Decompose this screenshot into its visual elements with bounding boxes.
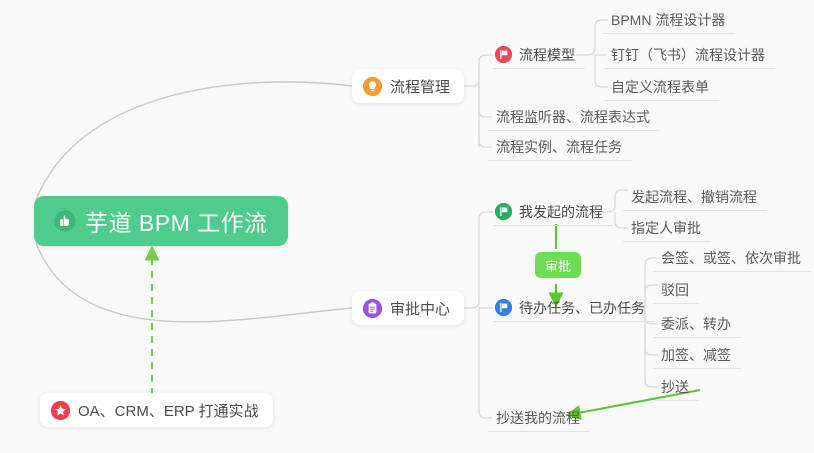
- leaf-label: 流程实例、流程任务: [496, 137, 622, 157]
- leaf-label: 抄送: [661, 377, 689, 397]
- edge-ac-to-ccme: [479, 308, 492, 418]
- leaf-label: 钉钉（飞书）流程设计器: [611, 45, 765, 65]
- leaf-dingtalk-feishu-designer[interactable]: 钉钉（飞书）流程设计器: [603, 41, 775, 69]
- node-label: 待办任务、已办任务: [519, 298, 645, 318]
- flag-icon: [495, 46, 512, 63]
- node-my-initiated-process[interactable]: 我发起的流程: [493, 198, 613, 226]
- branch-approval-center[interactable]: 审批中心: [352, 291, 464, 325]
- leaf-delegate-transfer[interactable]: 委派、转办: [653, 310, 741, 338]
- node-process-model[interactable]: 流程模型: [493, 41, 585, 69]
- footer-card-oa-crm-erp[interactable]: OA、CRM、ERP 打通实战: [40, 393, 273, 427]
- node-label: 我发起的流程: [519, 202, 603, 222]
- leaf-countersign-or-sequential[interactable]: 会签、或签、依次审批: [653, 244, 811, 272]
- leaf-process-listener-expression[interactable]: 流程监听器、流程表达式: [488, 103, 660, 131]
- root-node-label: 芋道 BPM 工作流: [85, 204, 268, 238]
- leaf-label: 指定人审批: [631, 218, 701, 238]
- node-label: 流程模型: [519, 45, 575, 65]
- star-icon: [51, 401, 70, 420]
- flag-icon: [495, 203, 512, 220]
- leaf-label: BPMN 流程设计器: [611, 10, 725, 30]
- edge-ac-to-mine: [463, 212, 493, 308]
- branch-label: 流程管理: [390, 76, 450, 97]
- leaf-label: 自定义流程表单: [611, 77, 709, 97]
- leaf-label: 委派、转办: [661, 314, 731, 334]
- leaf-label: 抄送我的流程: [496, 408, 580, 428]
- leaf-bpmn-designer[interactable]: BPMN 流程设计器: [603, 6, 735, 34]
- approval-flow-pill: 审批: [535, 252, 581, 278]
- edge-pm-to-model: [479, 55, 493, 86]
- root-node[interactable]: 芋道 BPM 工作流: [34, 196, 288, 246]
- lightbulb-icon: [363, 77, 382, 96]
- leaf-label: 会签、或签、依次审批: [661, 248, 801, 268]
- node-todo-done-tasks[interactable]: 待办任务、已办任务: [493, 294, 655, 322]
- flag-icon: [495, 299, 512, 316]
- edge-pm-trunk: [463, 62, 479, 147]
- clipboard-icon: [363, 299, 382, 318]
- edge-root-to-approval-center: [36, 243, 352, 322]
- branch-label: 审批中心: [390, 298, 450, 319]
- leaf-label: 发起流程、撤销流程: [631, 187, 757, 207]
- leaf-reject[interactable]: 驳回: [653, 276, 699, 304]
- footer-card-label: OA、CRM、ERP 打通实战: [78, 400, 259, 421]
- leaf-label: 驳回: [661, 280, 689, 300]
- leaf-carbon-copy[interactable]: 抄送: [653, 373, 699, 401]
- approval-flow-pill-label: 审批: [545, 256, 571, 275]
- leaf-designated-approver[interactable]: 指定人审批: [623, 214, 711, 242]
- leaf-label: 加签、减签: [661, 345, 731, 365]
- thumbs-up-icon: [54, 210, 76, 232]
- leaf-start-cancel-process[interactable]: 发起流程、撤销流程: [623, 183, 767, 211]
- leaf-add-remove-sign[interactable]: 加签、减签: [653, 341, 741, 369]
- branch-process-management[interactable]: 流程管理: [352, 69, 464, 103]
- edge-root-to-process-management: [36, 82, 352, 200]
- leaf-cc-to-me-process[interactable]: 抄送我的流程: [488, 404, 590, 432]
- leaf-custom-process-form[interactable]: 自定义流程表单: [603, 73, 719, 101]
- leaf-label: 流程监听器、流程表达式: [496, 107, 650, 127]
- leaf-process-instance-task[interactable]: 流程实例、流程任务: [488, 133, 632, 161]
- mindmap-canvas: 芋道 BPM 工作流 流程管理 流程模型 BPMN 流程设计器 钉钉（飞书）流程…: [0, 0, 814, 453]
